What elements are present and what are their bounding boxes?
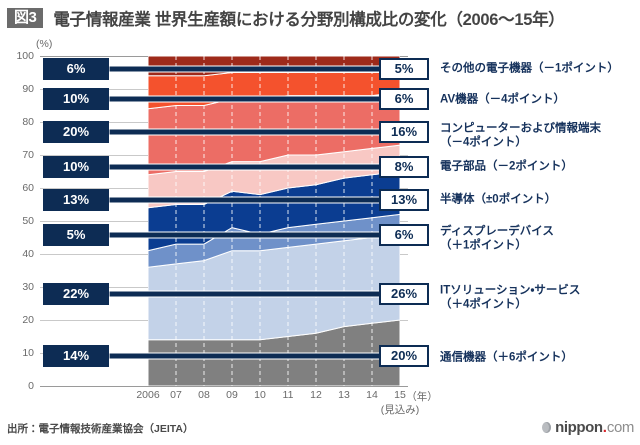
legend-label-ITソリューション・サービス: ITソリューション・サービス （＋4ポイント） — [440, 285, 580, 312]
y-axis-tick-label: 0 — [4, 380, 34, 392]
value-box-end-電子部品: 8% — [379, 156, 429, 178]
y-axis-tick-label: 10 — [4, 347, 34, 359]
legend-label-電子部品: 電子部品（－2ポイント） — [440, 160, 573, 174]
arrow-shape — [109, 286, 402, 302]
value-box-start-AV機器: 10% — [43, 88, 109, 110]
y-axis-tick-label: 50 — [4, 215, 34, 227]
x-axis-line — [40, 386, 408, 387]
arrow-shape — [109, 159, 402, 175]
arrow-shape — [109, 227, 402, 243]
x-axis-tick-label: 14 — [366, 389, 378, 401]
x-axis-tick-label: 2006 — [136, 389, 159, 401]
x-axis-tick-label: 13 — [338, 389, 350, 401]
x-axis-tick-label: 15 — [394, 389, 406, 401]
value-box-start-ディスプレーデバイス: 5% — [43, 224, 109, 246]
source-note: 出所：電子情報技術産業協会（JEITA） — [7, 421, 193, 436]
logo-com-text: com — [607, 419, 634, 436]
legend-label-コンピューターおよび情報端末: コンピューターおよび情報端末 （－4ポイント） — [440, 123, 601, 150]
value-box-end-ディスプレーデバイス: 6% — [379, 224, 429, 246]
chart-header: 図3 電子情報産業 世界生産額における分野別構成比の変化（2006〜15年） — [0, 0, 640, 36]
value-box-start-コンピューターおよび情報端末: 20% — [43, 121, 109, 143]
value-box-start-その他の電子機器: 6% — [43, 58, 109, 80]
page-title: 電子情報産業 世界生産額における分野別構成比の変化（2006〜15年） — [53, 6, 564, 30]
arrow-shape — [109, 91, 402, 107]
x-axis-tick-label: 09 — [226, 389, 238, 401]
value-box-end-コンピューターおよび情報端末: 16% — [379, 121, 429, 143]
value-box-end-通信機器: 20% — [379, 345, 429, 367]
value-box-start-半導体: 13% — [43, 189, 109, 211]
legend-label-半導体: 半導体（±0ポイント） — [440, 193, 556, 207]
y-axis-tick-label: 30 — [4, 281, 34, 293]
legend-label-AV機器: AV機器（－4ポイント） — [440, 93, 565, 107]
trend-arrow-半導体 — [109, 192, 404, 208]
value-box-end-AV機器: 6% — [379, 88, 429, 110]
value-box-start-ITソリューション・サービス: 22% — [43, 283, 109, 305]
y-axis-tick-label: 70 — [4, 149, 34, 161]
y-axis-tick-label: 60 — [4, 182, 34, 194]
figure-number-badge: 図3 — [7, 8, 43, 29]
y-axis-tick-label: 20 — [4, 314, 34, 326]
x-axis-forecast-note: (見込み) — [381, 402, 420, 417]
y-axis-tick-label: 100 — [4, 50, 34, 62]
trend-arrow-電子部品 — [109, 159, 404, 175]
legend-label-その他の電子機器: その他の電子機器（－1ポイント） — [440, 62, 619, 76]
y-axis-tick-label: 40 — [4, 248, 34, 260]
legend-label-通信機器: 通信機器（＋6ポイント） — [440, 351, 573, 365]
y-axis-tick-label: 90 — [4, 83, 34, 95]
value-box-end-半導体: 13% — [379, 189, 429, 211]
x-axis-tick-label: 11 — [283, 389, 294, 401]
trend-arrow-通信機器 — [109, 348, 404, 364]
trend-arrow-ディスプレーデバイス — [109, 227, 404, 243]
arrow-shape — [109, 61, 402, 77]
x-axis-tick-label: 12 — [310, 389, 322, 401]
trend-arrow-コンピューターおよび情報端末 — [109, 124, 404, 140]
y-axis-unit-label: (%) — [36, 38, 52, 50]
trend-arrow-ITソリューション・サービス — [109, 286, 404, 302]
nippon-com-logo[interactable]: nippon . com — [542, 419, 634, 436]
value-box-start-電子部品: 10% — [43, 156, 109, 178]
value-box-end-ITソリューション・サービス: 26% — [379, 283, 429, 305]
chart-region: (%) 1009080706050403020100 2006070809101… — [0, 36, 640, 408]
logo-mark-icon — [542, 422, 551, 433]
arrow-shape — [109, 348, 402, 364]
x-axis-tick-label: 10 — [254, 389, 266, 401]
trend-arrow-AV機器 — [109, 91, 404, 107]
logo-nippon-text: nippon — [555, 419, 603, 436]
legend-label-ディスプレーデバイス: ディスプレーデバイス （＋1ポイント） — [440, 226, 554, 253]
x-axis-tick-label: 07 — [170, 389, 182, 401]
arrow-shape — [109, 192, 402, 208]
value-box-start-通信機器: 14% — [43, 345, 109, 367]
x-axis-tick-label: 08 — [198, 389, 210, 401]
value-box-end-その他の電子機器: 5% — [379, 58, 429, 80]
y-axis-tick-label: 80 — [4, 116, 34, 128]
trend-arrow-その他の電子機器 — [109, 61, 404, 77]
arrow-shape — [109, 124, 402, 140]
